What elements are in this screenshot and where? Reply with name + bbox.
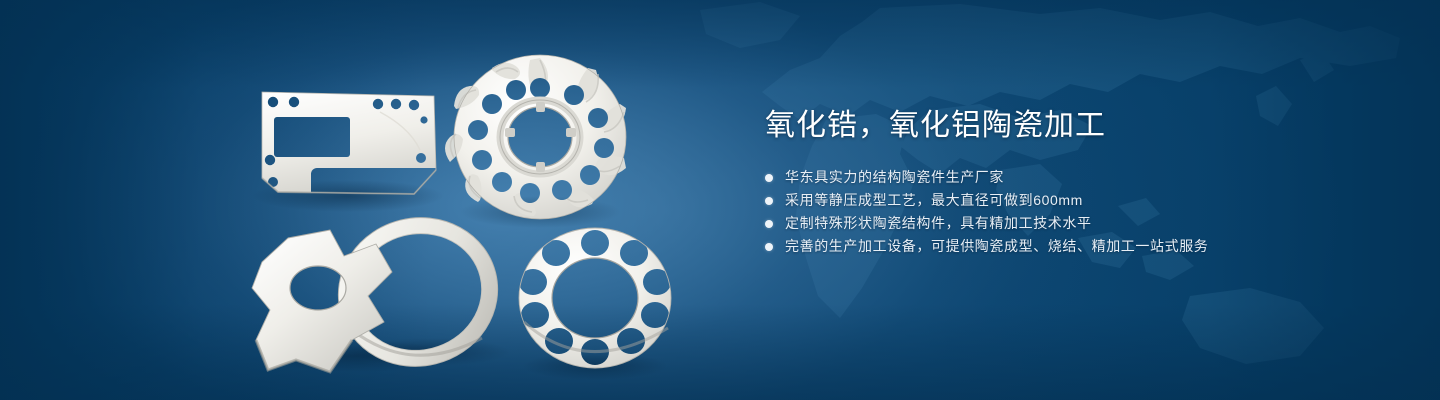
list-item: 采用等静压成型工艺，最大直径可做到600mm <box>765 189 1385 212</box>
product-images <box>0 0 720 400</box>
feature-text: 采用等静压成型工艺，最大直径可做到600mm <box>785 189 1083 212</box>
bullet-dot-icon <box>765 243 773 251</box>
feature-text: 定制特殊形状陶瓷结构件，具有精加工技术水平 <box>785 212 1092 235</box>
banner-copy: 氧化锆，氧化铝陶瓷加工 华东具实力的结构陶瓷件生产厂家 采用等静压成型工艺，最大… <box>765 106 1385 258</box>
ceramic-impeller-disc <box>445 55 626 219</box>
list-item: 定制特殊形状陶瓷结构件，具有精加工技术水平 <box>765 212 1385 235</box>
feature-list: 华东具实力的结构陶瓷件生产厂家 采用等静压成型工艺，最大直径可做到600mm 定… <box>765 166 1385 258</box>
list-item: 完善的生产加工设备，可提供陶瓷成型、烧结、精加工一站式服务 <box>765 235 1385 258</box>
feature-text: 完善的生产加工设备，可提供陶瓷成型、烧结、精加工一站式服务 <box>785 235 1208 258</box>
ceramic-mounting-plate <box>262 92 436 194</box>
feature-text: 华东具实力的结构陶瓷件生产厂家 <box>785 166 1004 189</box>
ceramic-perforated-ring <box>519 228 671 368</box>
bullet-dot-icon <box>765 197 773 205</box>
hero-banner: 氧化锆，氧化铝陶瓷加工 华东具实力的结构陶瓷件生产厂家 采用等静压成型工艺，最大… <box>0 0 1440 400</box>
bullet-dot-icon <box>765 174 773 182</box>
list-item: 华东具实力的结构陶瓷件生产厂家 <box>765 166 1385 189</box>
banner-headline: 氧化锆，氧化铝陶瓷加工 <box>765 106 1385 146</box>
bullet-dot-icon <box>765 220 773 228</box>
